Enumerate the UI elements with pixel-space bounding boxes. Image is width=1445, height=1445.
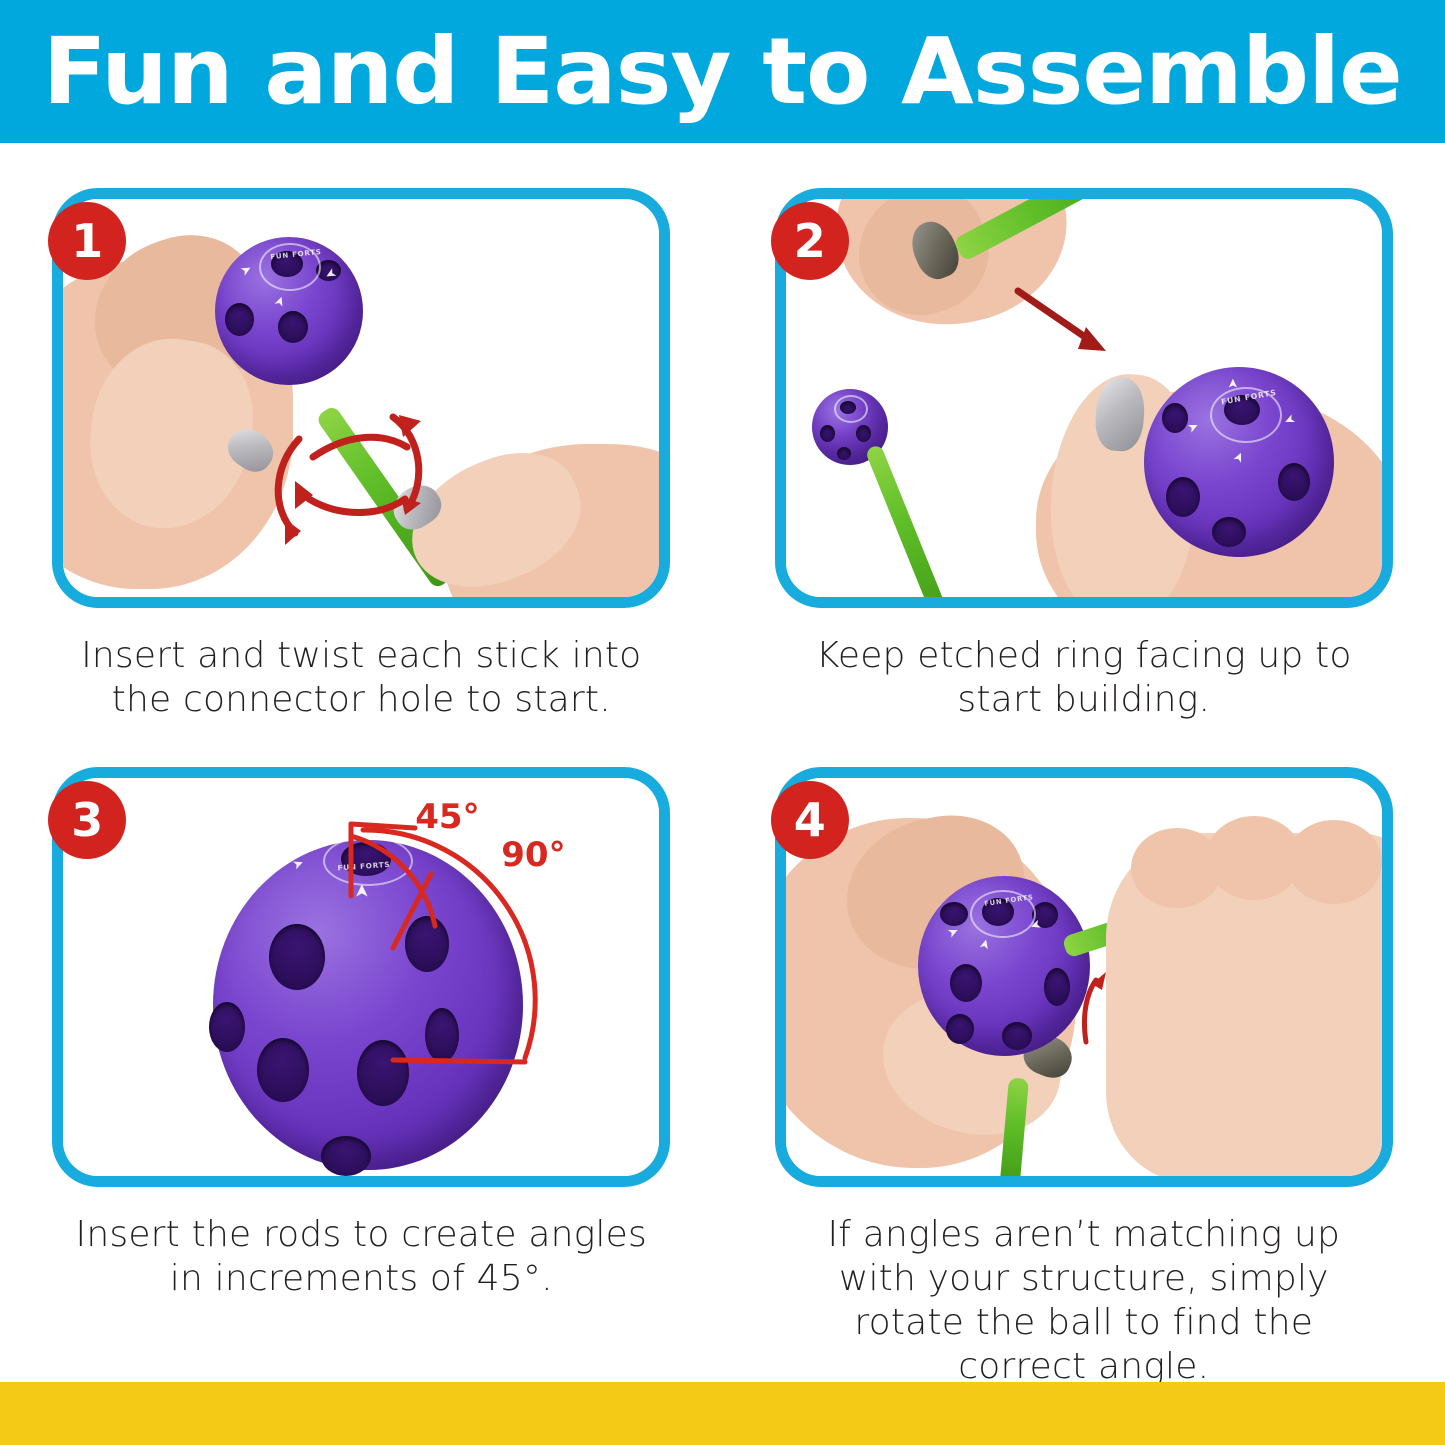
step-caption-2: Keep etched ring facing up to start buil… (794, 634, 1374, 722)
ball-hole-bottom (1002, 1022, 1032, 1050)
ball-hole-right (1044, 968, 1070, 1006)
ball-hole-bottom (1212, 517, 1246, 547)
angle-label-90: 90° (501, 838, 565, 872)
step-3-photo: FUN FORTS ➤ ➤ (63, 778, 659, 1176)
small-ball-hole-left (820, 425, 835, 442)
etched-arrow-down-icon: ➤ (354, 883, 372, 898)
angle-label-45: 45° (415, 800, 479, 834)
step-2-image-frame: FUN FORTS ➤ ➤ ➤ ➤ 2 (775, 188, 1393, 608)
purple-connector-ball: FUN FORTS ➤ ➤ ➤ (215, 237, 363, 385)
step-card-3: FUN FORTS ➤ ➤ (0, 722, 723, 1389)
ball-hole-center (278, 311, 308, 343)
etched-arrow-bottom-icon: ➤ (1231, 450, 1247, 465)
ball-hole-lower-center (357, 1040, 409, 1106)
step-caption-4: If angles aren’t matching up with your s… (794, 1213, 1374, 1389)
ball-hole-right (1278, 463, 1310, 501)
etched-arrow-down-icon: ➤ (978, 937, 993, 951)
ball-hole-bottom (321, 1136, 371, 1176)
ball-hole-left (950, 964, 982, 1002)
step-2-photo: FUN FORTS ➤ ➤ ➤ ➤ (786, 199, 1382, 597)
etched-arrow-left-icon: ➤ (291, 856, 306, 872)
step-3-image-frame: FUN FORTS ➤ ➤ (52, 767, 670, 1187)
etched-ring (323, 836, 413, 886)
etched-arrow-left-icon: ➤ (1186, 419, 1201, 435)
etched-arrow-right-icon: ➤ (1282, 411, 1297, 427)
footer-banner (0, 1382, 1445, 1445)
ball-hole-lower-left (946, 1014, 974, 1044)
step-caption-3: Insert the rods to create angles in incr… (71, 1213, 651, 1301)
step-number-2: 2 (794, 218, 826, 264)
step-number-3: 3 (71, 797, 103, 843)
step-badge-3: 3 (48, 781, 126, 859)
step-4-image-frame: FUN FORTS ➤ ➤ ➤ (775, 767, 1393, 1187)
ball-hole-lower-left (257, 1038, 309, 1102)
step-2-frame-border: FUN FORTS ➤ ➤ ➤ ➤ (775, 188, 1393, 608)
small-ball-hole-right (856, 425, 871, 442)
etched-arrow-left-icon: ➤ (946, 924, 961, 940)
steps-grid: FUN FORTS ➤ ➤ ➤ (0, 143, 1445, 1382)
small-ball-hole-bottom (837, 447, 851, 460)
ball-hole-right (425, 1008, 459, 1062)
step-badge-2: 2 (771, 202, 849, 280)
step-card-1: FUN FORTS ➤ ➤ ➤ (0, 143, 723, 722)
step-caption-1: Insert and twist each stick into the con… (71, 634, 651, 722)
ball-hole-upper-left (940, 902, 968, 926)
small-etched-ring (834, 395, 868, 423)
etched-arrow-bottom-icon: ➤ (273, 294, 289, 309)
green-rod-lower (864, 444, 955, 597)
purple-connector-ball: FUN FORTS ➤ ➤ ➤ ➤ (1144, 367, 1334, 557)
etched-arrow-left-icon: ➤ (239, 262, 255, 279)
step-1-photo: FUN FORTS ➤ ➤ ➤ (63, 199, 659, 597)
purple-connector-ball: FUN FORTS ➤ ➤ ➤ (918, 876, 1090, 1056)
step-number-1: 1 (71, 218, 103, 264)
page-title: Fun and Easy to Assemble (43, 26, 1402, 118)
ball-hole-upper-right (405, 916, 449, 972)
ball-hole-far-left (209, 1002, 245, 1052)
step-1-image-frame: FUN FORTS ➤ ➤ ➤ (52, 188, 670, 608)
step-number-4: 4 (794, 797, 826, 843)
ball-hole-left (1162, 403, 1188, 433)
step-4-frame-border: FUN FORTS ➤ ➤ ➤ (775, 767, 1393, 1187)
etched-arrow-up-icon: ➤ (1227, 378, 1240, 389)
ball-hole-lower-left (1166, 477, 1200, 517)
purple-connector-ball-closeup: FUN FORTS ➤ ➤ (213, 840, 523, 1170)
ball-hole-left (225, 303, 254, 336)
step-3-frame-border: FUN FORTS ➤ ➤ (52, 767, 670, 1187)
step-card-4: FUN FORTS ➤ ➤ ➤ (723, 722, 1445, 1389)
step-badge-1: 1 (48, 202, 126, 280)
ball-hole-upper-left (269, 924, 325, 990)
step-badge-4: 4 (771, 781, 849, 859)
step-4-photo: FUN FORTS ➤ ➤ ➤ (786, 778, 1382, 1176)
step-card-2: FUN FORTS ➤ ➤ ➤ ➤ 2 (723, 143, 1445, 722)
step-1-frame-border: FUN FORTS ➤ ➤ ➤ (52, 188, 670, 608)
header-banner: Fun and Easy to Assemble (0, 0, 1445, 143)
right-knuckle-3 (1286, 820, 1382, 904)
